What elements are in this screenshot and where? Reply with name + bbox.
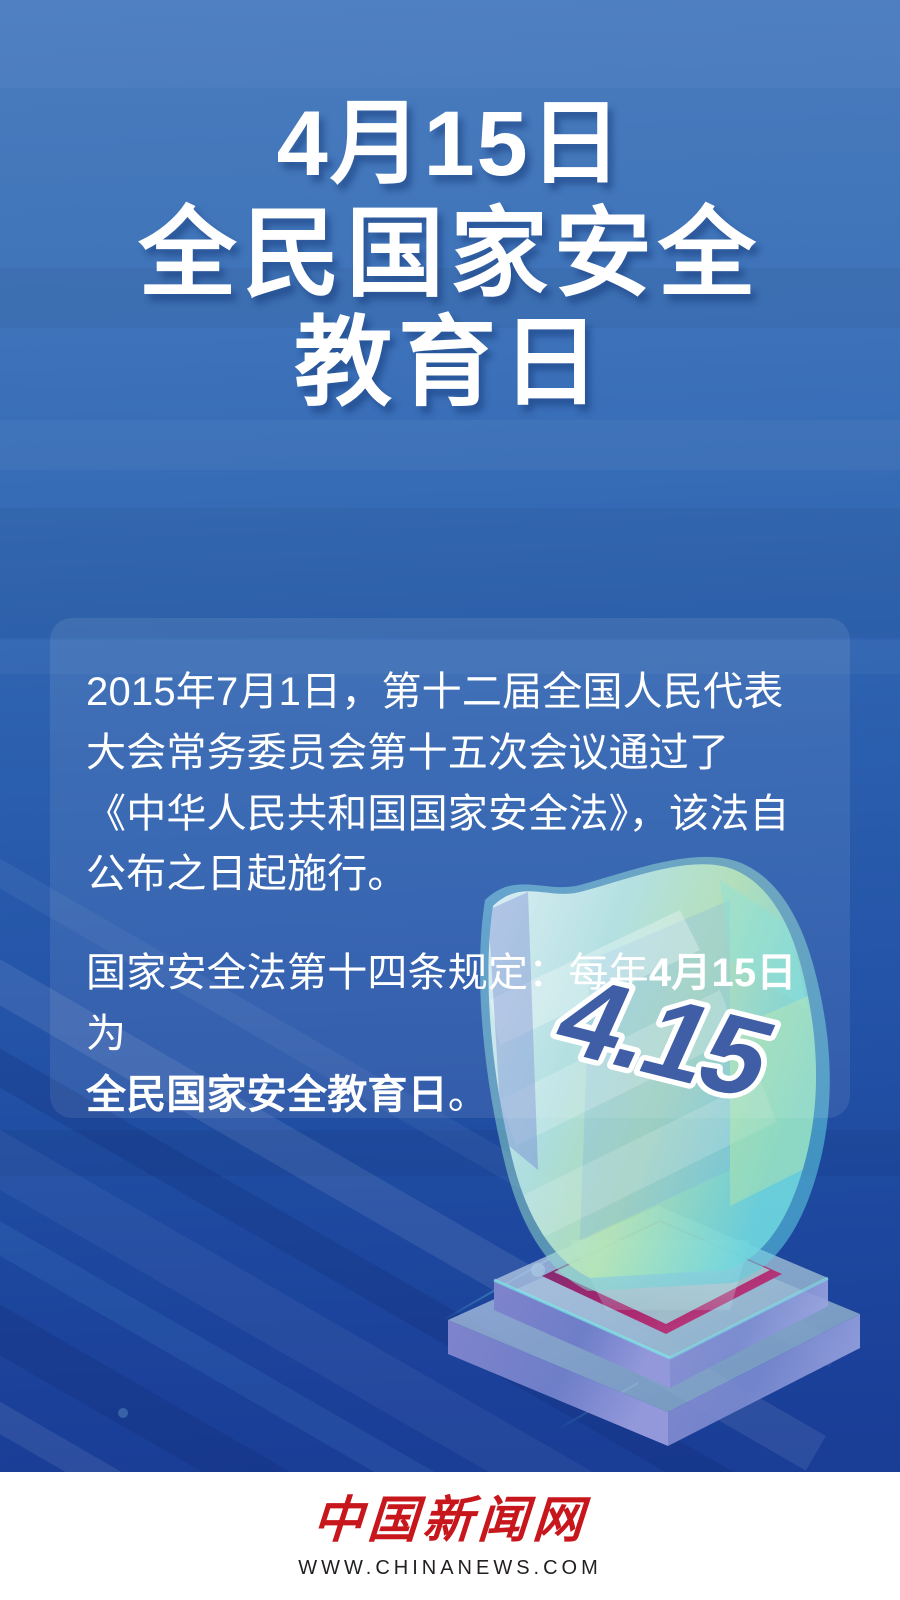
chinanews-url-text: WWW.CHINANEWS.COM xyxy=(298,1558,602,1578)
poster-canvas: 4月15日 全民国家安全 教育日 2015年7月1日，第十二届全国人民代表大会常… xyxy=(0,0,900,1600)
info-card: 2015年7月1日，第十二届全国人民代表大会常务委员会第十五次会议通过了《中华人… xyxy=(50,618,850,1118)
article-prefix-text: 国家安全法第十四条规定：每年 xyxy=(86,951,649,995)
chinanews-logo: 中国新闻网 xyxy=(311,1495,589,1545)
background-band xyxy=(0,0,900,88)
law-article-paragraph: 国家安全法第十四条规定：每年4月15日为全民国家安全教育日。 xyxy=(86,943,804,1125)
heading-line-secondary: 教育日 xyxy=(0,311,900,415)
site-footer: 中国新闻网 WWW.CHINANEWS.COM xyxy=(0,1472,900,1600)
heading-line-date: 4月15日 xyxy=(0,96,900,194)
background-band xyxy=(0,420,900,470)
node-dot xyxy=(118,1408,128,1418)
article-middle-text: 为 xyxy=(86,1012,126,1056)
article-emphasis-text: 全民国家安全教育日 xyxy=(86,1073,448,1117)
law-enactment-paragraph: 2015年7月1日，第十二届全国人民代表大会常务委员会第十五次会议通过了《中华人… xyxy=(86,662,804,905)
article-date-text: 4月15日 xyxy=(649,951,797,995)
heading-line-primary: 全民国家安全 xyxy=(0,202,900,306)
article-suffix-text: 。 xyxy=(448,1073,488,1117)
poster-heading: 4月15日 全民国家安全 教育日 xyxy=(0,96,900,415)
